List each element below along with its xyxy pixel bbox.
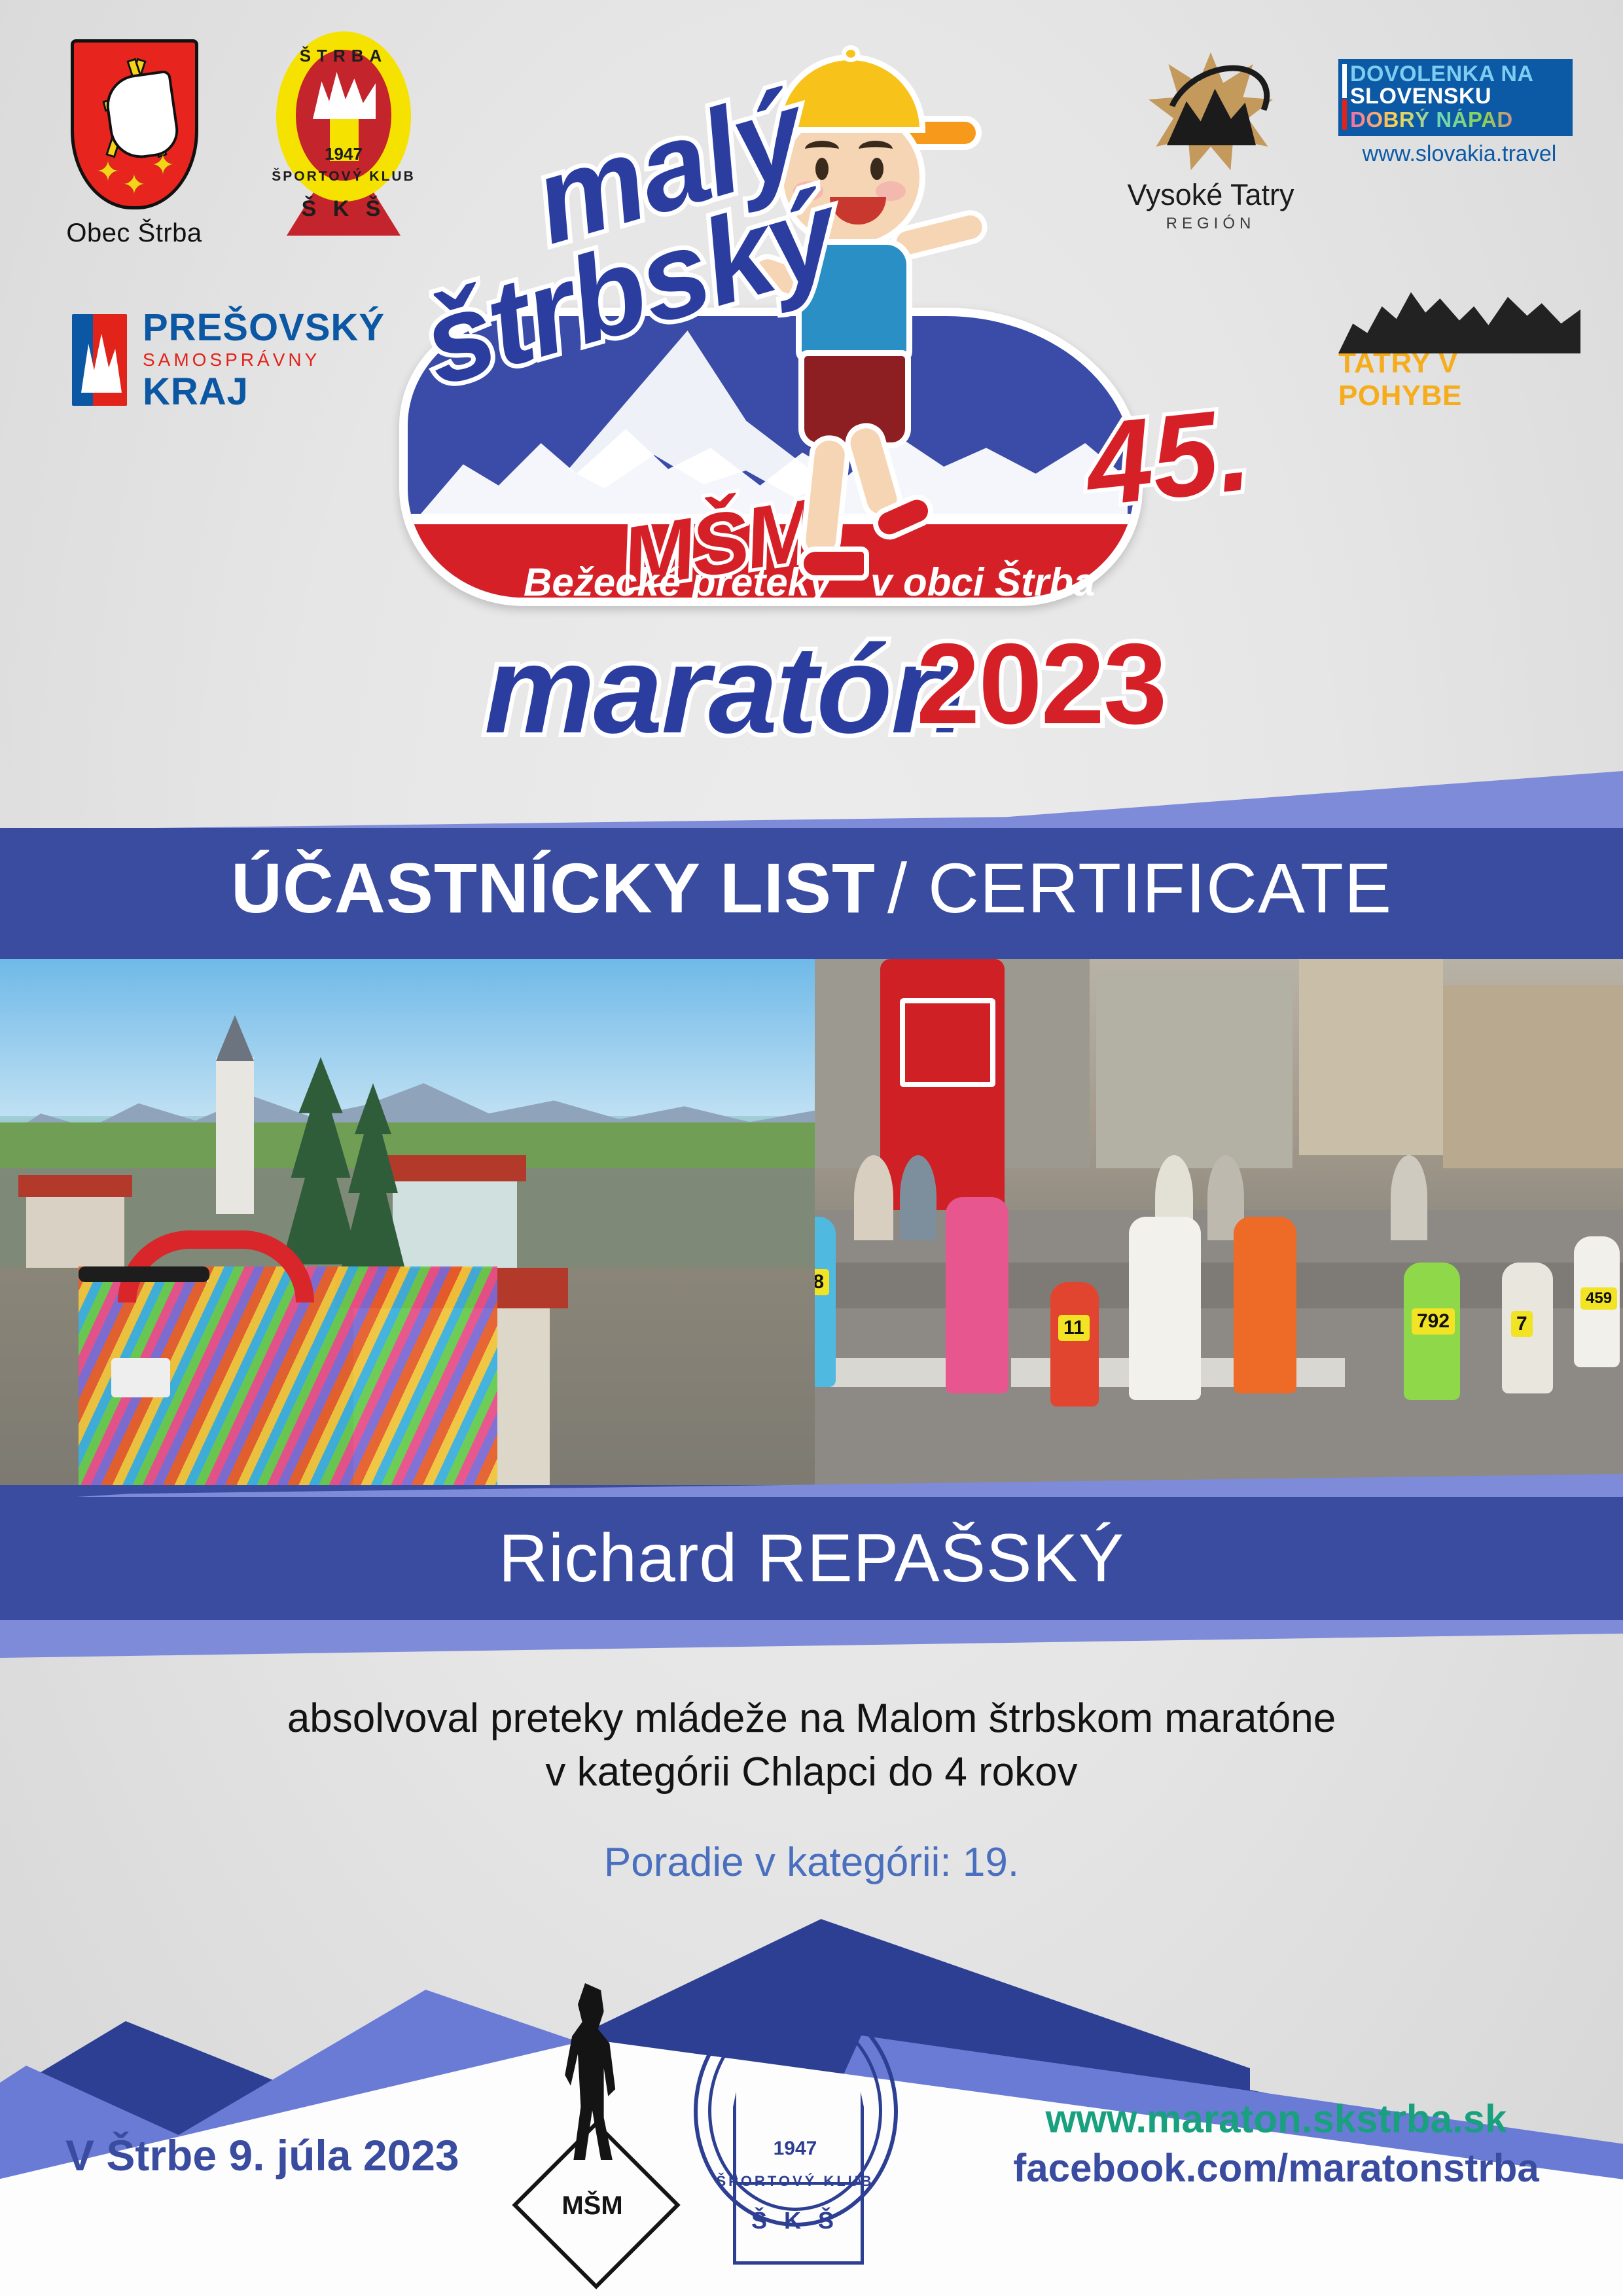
logo-slovakia-travel: DOVOLENKA NA SLOVENSKU DOBRÝ NÁPAD www.s… [1338, 59, 1580, 167]
participant-name: Richard REPAŠSKÝ [499, 1520, 1124, 1598]
tatry-skyline-icon [1338, 275, 1580, 353]
slovakia-line3: DOBRÝ NÁPAD [1350, 109, 1573, 132]
photo-bib-738: 738 [815, 1269, 829, 1295]
certificate-page: ✦ ✦ ✦ Obec Štrba ŠTRBA 1947 ŠPORTOVÝ KLU… [0, 0, 1623, 2296]
logo-year: 2023 [916, 619, 1166, 750]
photo-bib-459: 459 [1580, 1287, 1617, 1310]
presov-flag-icon [72, 314, 127, 406]
category-rank: Poradie v kategórii: 19. [0, 1839, 1623, 1886]
photo-bib-11: 11 [1058, 1315, 1090, 1341]
presov-line2: SAMOSPRÁVNY [143, 347, 385, 372]
slovakia-line2: SLOVENSKU [1350, 85, 1573, 109]
slovakia-travel-banner: DOVOLENKA NA SLOVENSKU DOBRÝ NÁPAD [1338, 59, 1573, 136]
participant-name-band: Richard REPAŠSKÝ [0, 1497, 1623, 1620]
seal-mid-text: ŠPORTOVÝ KLUB [687, 2173, 903, 2190]
photo-left-aerial-start: www.strba.sk [0, 959, 815, 1485]
place-and-date: V Štrbe 9. júla 2023 [65, 2130, 459, 2180]
footer-links: www.maraton.skstrba.sk facebook.com/mara… [982, 2094, 1571, 2193]
seal-bottom-text: Š K Š [687, 2207, 903, 2234]
body-line-2: v kategórii Chlapci do 4 rokov [0, 1746, 1623, 1799]
certificate-title-sk: ÚČASTNÍCKY LIST [231, 847, 876, 929]
msm-runner-mark-icon: MŠM [517, 1983, 674, 2245]
event-photo: www.strba.sk [0, 947, 1623, 1497]
facebook-link[interactable]: facebook.com/maratonstrba [982, 2144, 1571, 2193]
slovakia-travel-url[interactable]: www.slovakia.travel [1338, 141, 1580, 167]
logo-obec-strba: ✦ ✦ ✦ Obec Štrba [59, 39, 209, 248]
edition-badge: 45. [1080, 381, 1257, 533]
name-band-wedge-bottom [0, 1620, 1623, 1658]
body-line-1: absolvoval preteky mládeže na Malom štrb… [0, 1692, 1623, 1746]
website-link[interactable]: www.maraton.skstrba.sk [982, 2094, 1571, 2144]
logo-tatry-v-pohybe: TATRY V POHYBE [1338, 275, 1587, 412]
tatry-v-pohybe-label: TATRY V POHYBE [1338, 347, 1587, 412]
msm-mark-label: MŠM [551, 2191, 633, 2221]
photo-bib-7: 7 [1511, 1311, 1533, 1337]
sks-strba-seal-icon: ŠTRBA 1947 ŠPORTOVÝ KLUB Š K Š [687, 1977, 903, 2258]
certificate-body: absolvoval preteky mládeže na Malom štrb… [0, 1692, 1623, 1799]
certificate-title-en: / CERTIFICATE [887, 847, 1392, 929]
slovakia-line1: DOVOLENKA NA [1350, 63, 1573, 85]
obec-strba-coat-of-arms-icon: ✦ ✦ ✦ [71, 39, 198, 209]
logo-presovsky-kraj: PREŠOVSKÝ SAMOSPRÁVNY KRAJ [72, 295, 412, 425]
event-logo: MŠM 45. Bežecké preteky v obci Štrba ma [393, 36, 1230, 808]
photo-right-kids-race: 736 738 11 792 7 459 [815, 959, 1623, 1485]
presov-text-block: PREŠOVSKÝ SAMOSPRÁVNY KRAJ [143, 309, 385, 410]
presov-line3: KRAJ [143, 373, 385, 411]
seal-top-text: ŠTRBA [687, 2012, 903, 2033]
seal-year-text: 1947 [687, 2138, 903, 2160]
logo-word-maraton: maratón [484, 619, 966, 761]
certificate-title-band: ÚČASTNÍCKY LIST / CERTIFICATE [0, 828, 1623, 947]
presov-line1: PREŠOVSKÝ [143, 309, 385, 347]
obec-strba-label: Obec Štrba [59, 219, 209, 248]
photo-bib-792: 792 [1412, 1308, 1455, 1335]
